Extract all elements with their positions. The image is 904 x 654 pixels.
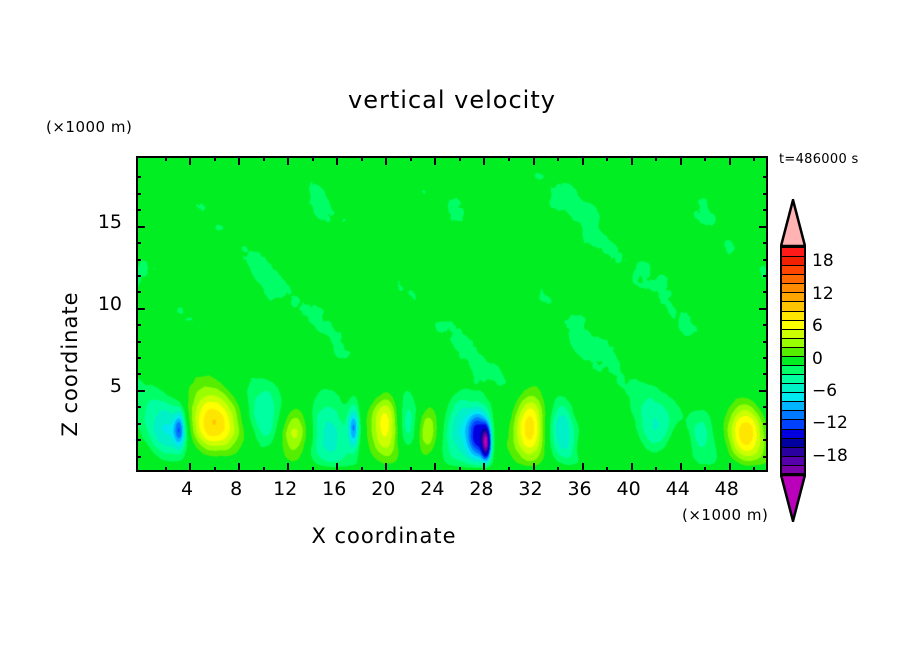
colorbar-cells <box>780 247 806 474</box>
x-tick-top <box>214 156 216 161</box>
x-tick-label: 40 <box>607 478 651 500</box>
y-tick <box>136 275 141 277</box>
x-tick-top <box>729 156 731 165</box>
y-tick-right <box>759 226 768 228</box>
colorbar-tick-label: 6 <box>812 316 823 336</box>
y-tick <box>136 456 141 458</box>
x-tick-top <box>361 156 363 161</box>
colorbar-tick-label: 18 <box>812 251 834 271</box>
colorbar-cell <box>780 438 806 447</box>
x-tick <box>606 467 608 472</box>
x-tick-label: 12 <box>263 478 307 500</box>
x-tick-label: 8 <box>214 478 258 500</box>
x-tick <box>189 463 191 472</box>
y-tick-right <box>759 308 768 310</box>
timestamp-annotation: t=486000 s <box>779 152 859 167</box>
y-tick-right <box>763 193 768 195</box>
x-tick-label: 44 <box>656 478 700 500</box>
colorbar-cell <box>780 265 806 274</box>
x-tick <box>385 463 387 472</box>
y-tick <box>136 423 141 425</box>
colorbar-cell <box>780 329 806 338</box>
colorbar-cell <box>780 356 806 365</box>
y-axis-title: Z coordinate <box>58 234 82 494</box>
y-tick-right <box>763 439 768 441</box>
y-tick <box>136 341 141 343</box>
y-tick-right <box>763 176 768 178</box>
colorbar-cell <box>780 410 806 419</box>
y-tick-right <box>763 357 768 359</box>
y-tick <box>136 291 141 293</box>
colorbar-cell <box>780 283 806 292</box>
y-tick <box>136 176 141 178</box>
x-tick-top <box>434 156 436 165</box>
x-tick <box>410 467 412 472</box>
colorbar-cell <box>780 274 806 283</box>
x-tick <box>533 463 535 472</box>
x-tick <box>557 467 559 472</box>
x-tick <box>631 463 633 472</box>
y-tick <box>136 406 141 408</box>
x-tick <box>704 467 706 472</box>
y-tick <box>136 226 145 228</box>
x-tick-top <box>533 156 535 165</box>
x-tick <box>753 467 755 472</box>
x-axis-title: X coordinate <box>0 524 768 548</box>
x-tick-label: 48 <box>705 478 749 500</box>
x-tick-top <box>655 156 657 161</box>
colorbar-cell <box>780 456 806 465</box>
colorbar-tick-label: −6 <box>812 381 837 401</box>
y-axis-unit-label: (×1000 m) <box>46 118 132 136</box>
y-tick-right <box>763 242 768 244</box>
x-tick <box>508 467 510 472</box>
colorbar-cell <box>780 401 806 410</box>
y-tick-right <box>763 209 768 211</box>
colorbar-tick-label: −18 <box>812 446 848 466</box>
y-tick-right <box>763 406 768 408</box>
y-tick-right <box>763 423 768 425</box>
colorbar-cell <box>780 374 806 383</box>
colorbar-cell <box>780 447 806 456</box>
x-tick <box>582 463 584 472</box>
x-tick <box>238 463 240 472</box>
x-tick-top <box>336 156 338 165</box>
y-tick <box>136 357 141 359</box>
colorbar-overflow-bottom <box>780 474 806 522</box>
x-tick-label: 36 <box>558 478 602 500</box>
x-tick <box>680 463 682 472</box>
colorbar-cell <box>780 419 806 428</box>
colorbar-cell <box>780 320 806 329</box>
x-tick-top <box>238 156 240 165</box>
x-tick <box>459 467 461 472</box>
colorbar-cell <box>780 429 806 438</box>
x-tick <box>729 463 731 472</box>
colorbar-cell <box>780 292 806 301</box>
x-tick-top <box>287 156 289 165</box>
colorbar-cell <box>780 301 806 310</box>
colorbar-cell <box>780 338 806 347</box>
x-tick-label: 28 <box>459 478 503 500</box>
y-tick-right <box>763 341 768 343</box>
x-tick-top <box>508 156 510 161</box>
x-tick <box>312 467 314 472</box>
x-tick <box>483 463 485 472</box>
colorbar-cell <box>780 365 806 374</box>
y-tick-label: 15 <box>82 211 122 233</box>
x-tick-top <box>704 156 706 161</box>
vertical-velocity-field <box>138 158 766 470</box>
x-tick <box>165 467 167 472</box>
colorbar-cell <box>780 392 806 401</box>
x-tick-top <box>385 156 387 165</box>
x-tick <box>336 463 338 472</box>
y-tick <box>136 373 141 375</box>
x-tick-label: 4 <box>165 478 209 500</box>
x-tick-label: 16 <box>312 478 356 500</box>
x-tick-top <box>483 156 485 165</box>
colorbar-tick-label: 0 <box>812 349 823 369</box>
x-tick <box>655 467 657 472</box>
x-tick-top <box>189 156 191 165</box>
x-axis-unit-label: (×1000 m) <box>682 506 768 524</box>
colorbar-tick-label: −12 <box>812 413 848 433</box>
x-tick-top <box>606 156 608 161</box>
colorbar-cell <box>780 311 806 320</box>
x-tick-top <box>410 156 412 161</box>
colorbar-cell <box>780 256 806 265</box>
y-tick-right <box>763 373 768 375</box>
y-tick <box>136 209 141 211</box>
y-tick <box>136 193 141 195</box>
y-tick-right <box>763 275 768 277</box>
x-tick-top <box>263 156 265 161</box>
colorbar-cell <box>780 383 806 392</box>
y-tick-right <box>763 291 768 293</box>
y-tick <box>136 324 141 326</box>
y-tick-label: 10 <box>82 293 122 315</box>
x-tick <box>434 463 436 472</box>
x-tick-top <box>557 156 559 161</box>
contour-plot-area <box>136 156 768 472</box>
colorbar-cell <box>780 247 806 256</box>
x-tick-label: 24 <box>410 478 454 500</box>
x-tick-top <box>680 156 682 165</box>
x-tick <box>263 467 265 472</box>
y-tick <box>136 242 141 244</box>
x-tick-top <box>459 156 461 161</box>
y-tick <box>136 259 141 261</box>
y-tick-label: 5 <box>82 375 122 397</box>
x-tick-label: 20 <box>361 478 405 500</box>
y-tick-right <box>763 324 768 326</box>
y-tick-right <box>763 259 768 261</box>
y-tick-right <box>759 390 768 392</box>
x-tick-label: 32 <box>509 478 553 500</box>
y-tick <box>136 439 141 441</box>
x-tick <box>287 463 289 472</box>
x-tick-top <box>165 156 167 161</box>
x-tick-top <box>582 156 584 165</box>
colorbar-tick-label: 12 <box>812 284 834 304</box>
x-tick-top <box>631 156 633 165</box>
colorbar-cell <box>780 347 806 356</box>
x-tick <box>214 467 216 472</box>
x-tick-top <box>312 156 314 161</box>
y-tick <box>136 390 145 392</box>
colorbar-overflow-top <box>780 199 806 247</box>
x-tick-top <box>753 156 755 161</box>
colorbar-cell <box>780 465 806 474</box>
y-tick-right <box>763 456 768 458</box>
x-tick <box>361 467 363 472</box>
page-title: vertical velocity <box>0 86 904 114</box>
y-tick <box>136 308 145 310</box>
